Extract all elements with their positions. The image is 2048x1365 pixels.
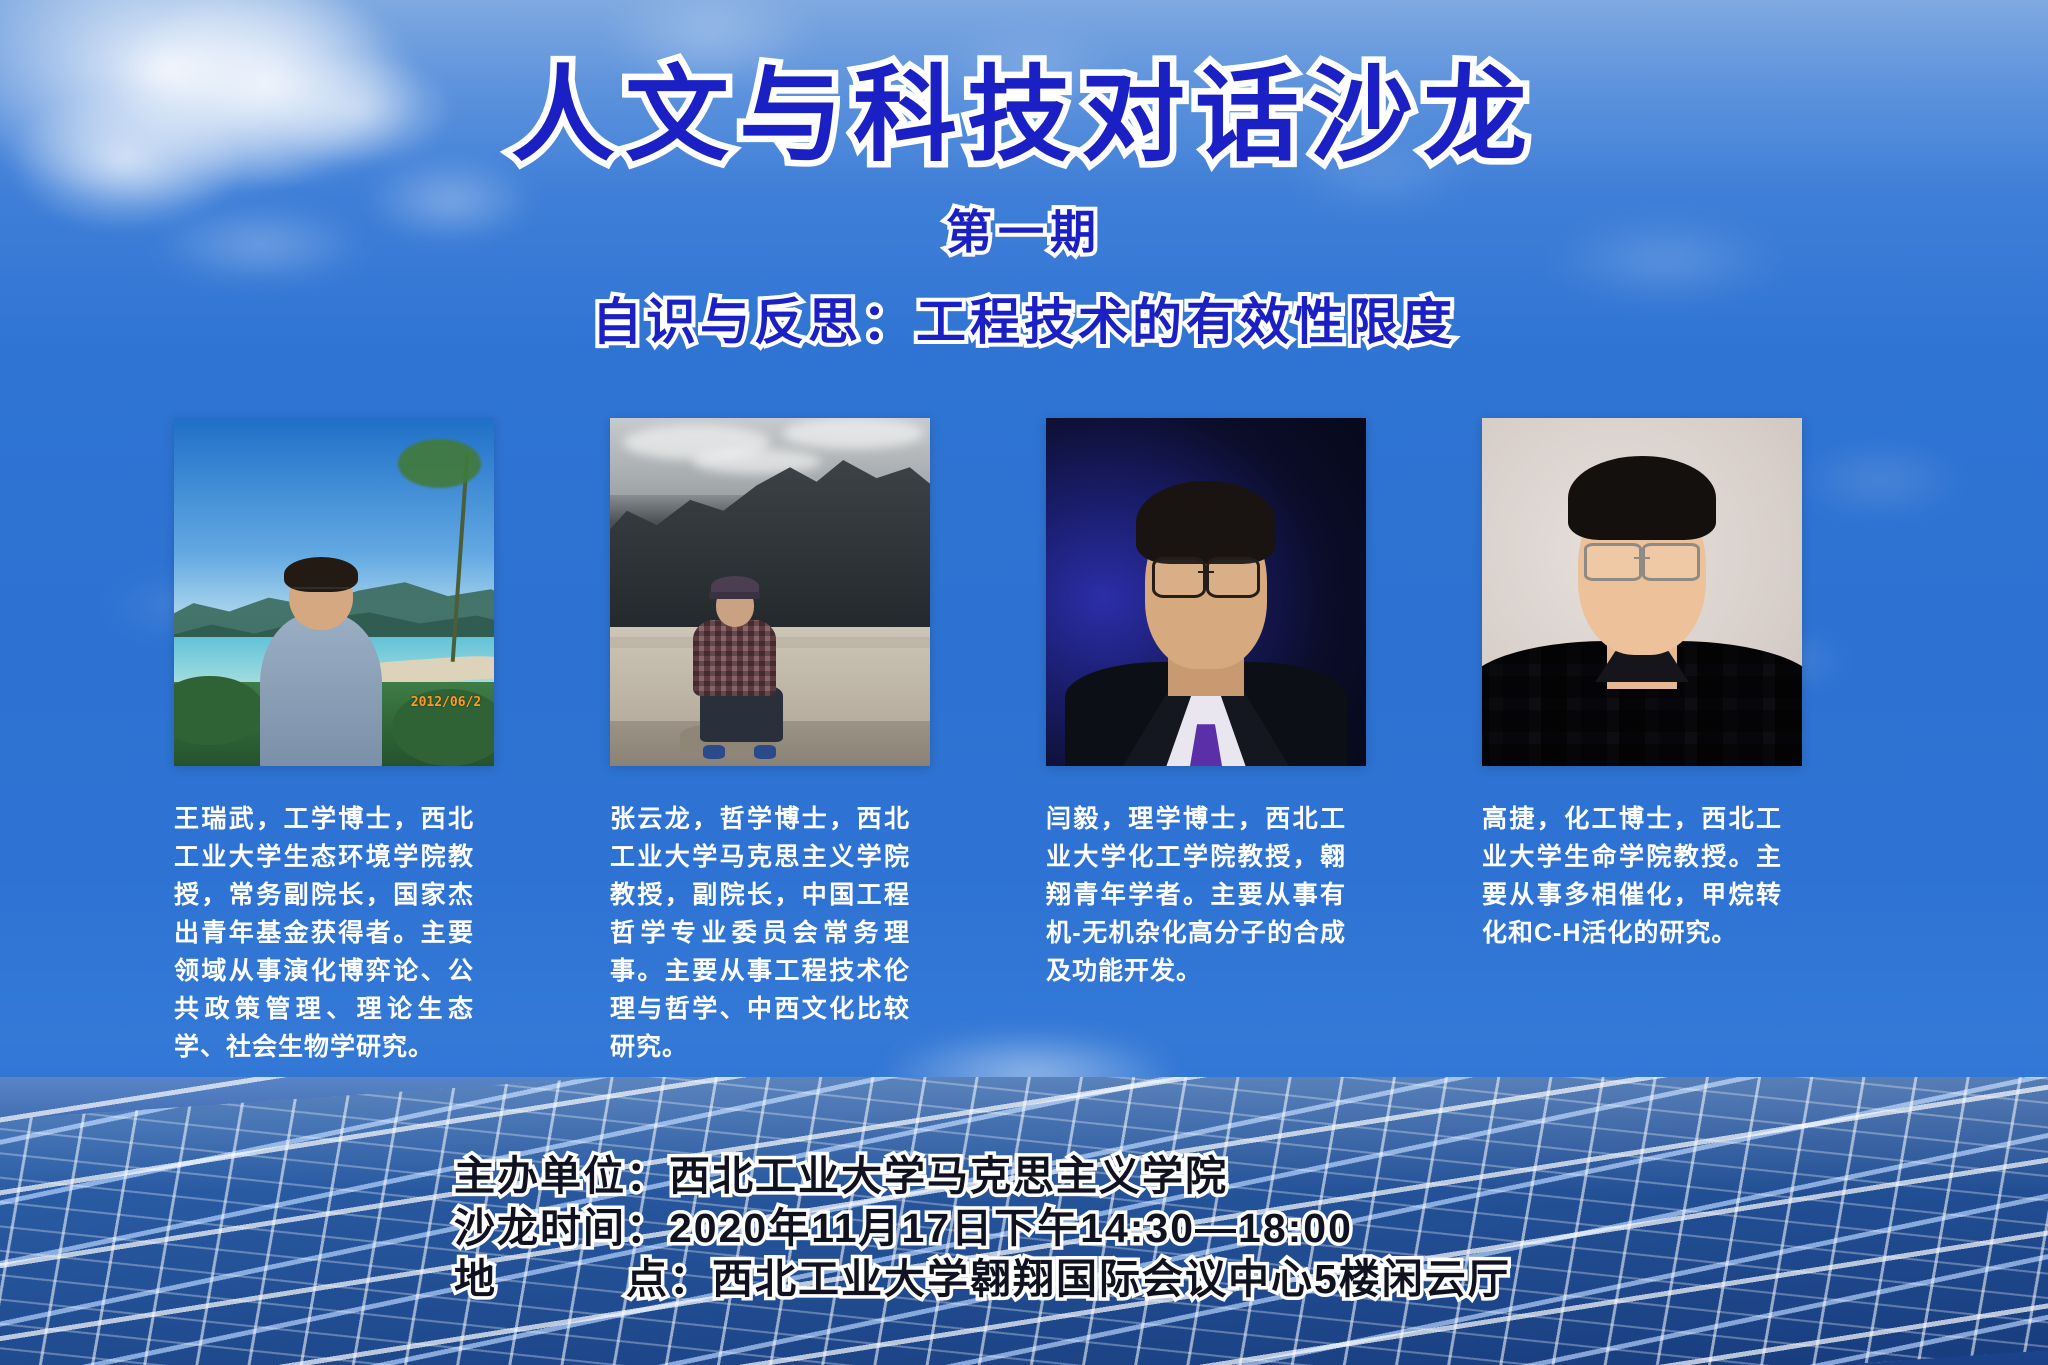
speaker-card: 张云龙，哲学博士，西北工业大学马克思主义学院教授，副院长，中国工程哲学专业委员会… <box>588 418 1024 1066</box>
speaker-card: 闫毅，理学博士，西北工业大学化工学院教授，翱翔青年学者。主要从事有机-无机杂化高… <box>1024 418 1460 1066</box>
photo-datestamp: 2012/06/2 <box>411 695 481 710</box>
organizer-line: 主办单位：西北工业大学马克思主义学院 <box>454 1151 1594 1202</box>
event-poster: 人文与科技对话沙龙 第一期 自识与反思：工程技术的有效性限度 2012 <box>0 0 2048 1365</box>
speaker-bio: 高捷，化工博士，西北工业大学生命学院教授。主要从事多相催化，甲烷转化和C-H活化… <box>1482 800 1782 952</box>
speaker-photo-zhangyunlong <box>610 418 930 766</box>
speaker-list: 2012/06/2 王瑞武，工学博士，西北工业大学生态环境学院教授，常务副院长，… <box>0 418 2048 1066</box>
topic-title: 自识与反思：工程技术的有效性限度 <box>0 282 2048 354</box>
speaker-bio: 张云龙，哲学博士，西北工业大学马克思主义学院教授，副院长，中国工程哲学专业委员会… <box>610 800 910 1066</box>
page-title: 人文与科技对话沙龙 <box>0 58 2048 174</box>
speaker-photo-wangruiwu: 2012/06/2 <box>174 418 494 766</box>
time-line: 沙龙时间：2020年11月17日下午14:30—18:00 <box>454 1203 1594 1254</box>
venue-line: 地 点：西北工业大学翱翔国际会议中心5楼闲云厅 <box>454 1254 1594 1305</box>
speaker-card: 高捷，化工博士，西北工业大学生命学院教授。主要从事多相催化，甲烷转化和C-H活化… <box>1460 418 1896 1066</box>
issue-label: 第一期 <box>0 196 2048 262</box>
event-details: 主办单位：西北工业大学马克思主义学院 沙龙时间：2020年11月17日下午14:… <box>0 1151 2048 1305</box>
speaker-card: 2012/06/2 王瑞武，工学博士，西北工业大学生态环境学院教授，常务副院长，… <box>152 418 588 1066</box>
speaker-photo-yanyi <box>1046 418 1366 766</box>
speaker-photo-gaojie <box>1482 418 1802 766</box>
title-block: 人文与科技对话沙龙 第一期 自识与反思：工程技术的有效性限度 <box>0 58 2048 354</box>
speaker-bio: 王瑞武，工学博士，西北工业大学生态环境学院教授，常务副院长，国家杰出青年基金获得… <box>174 800 474 1066</box>
speaker-bio: 闫毅，理学博士，西北工业大学化工学院教授，翱翔青年学者。主要从事有机-无机杂化高… <box>1046 800 1346 990</box>
